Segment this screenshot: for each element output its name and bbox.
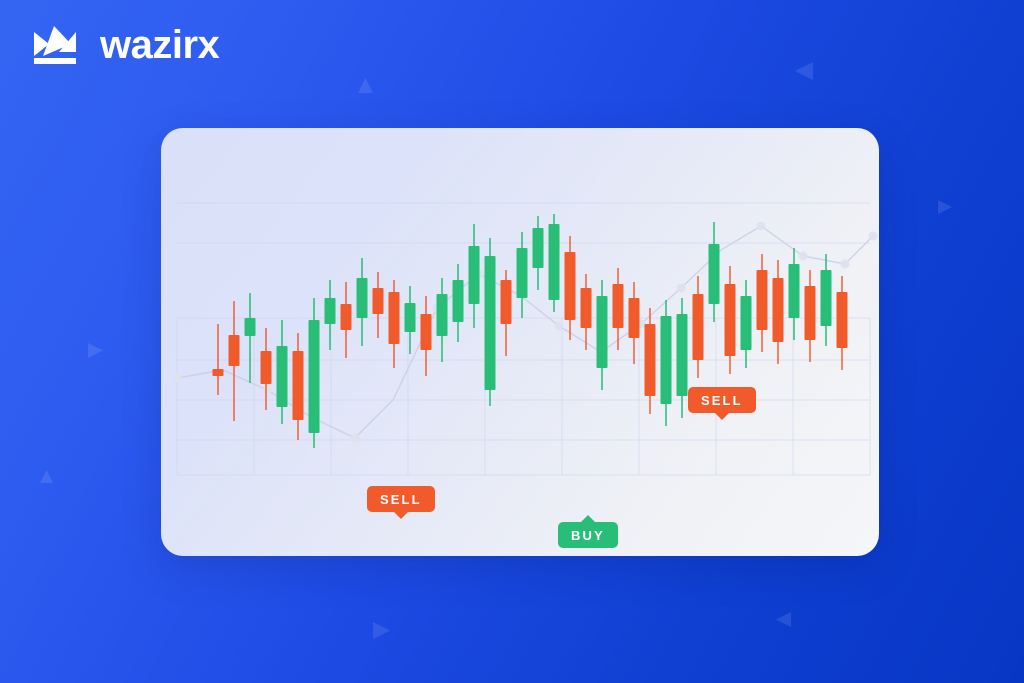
triangle-up-left-low-icon <box>40 470 53 483</box>
wazirx-crown-logo-icon <box>30 22 86 68</box>
triangle-up-top-icon <box>358 78 373 93</box>
buy-signal-1[interactable]: BUY <box>558 522 618 548</box>
promo-banner: wazirx SELLBUYSELLBUYBUY <box>0 0 1024 683</box>
triangle-right-mid-icon <box>88 343 103 358</box>
triangle-left-top-icon <box>795 62 813 80</box>
candlestick-chart[interactable] <box>161 128 879 556</box>
chart-gridlines <box>177 203 870 475</box>
sell-signal-2[interactable]: SELL <box>688 387 756 413</box>
badge-pointer-icon <box>580 515 596 523</box>
chart-card: SELLBUYSELLBUYBUY <box>161 128 879 556</box>
badge-label: SELL <box>380 493 422 506</box>
brand-name: wazirx <box>100 25 219 65</box>
badge-pointer-icon <box>714 412 730 420</box>
triangle-left-bottom-icon <box>776 612 791 627</box>
candlestick-chart-svg <box>161 128 879 556</box>
badge-label: SELL <box>701 394 743 407</box>
triangle-right-upper-icon <box>938 200 952 214</box>
badge-pointer-icon <box>393 511 409 519</box>
triangle-right-bottom-icon <box>373 622 390 639</box>
badge-label: BUY <box>571 529 605 542</box>
sell-signal-1[interactable]: SELL <box>367 486 435 512</box>
chart-candles <box>213 214 848 448</box>
brand-logo: wazirx <box>30 22 219 68</box>
